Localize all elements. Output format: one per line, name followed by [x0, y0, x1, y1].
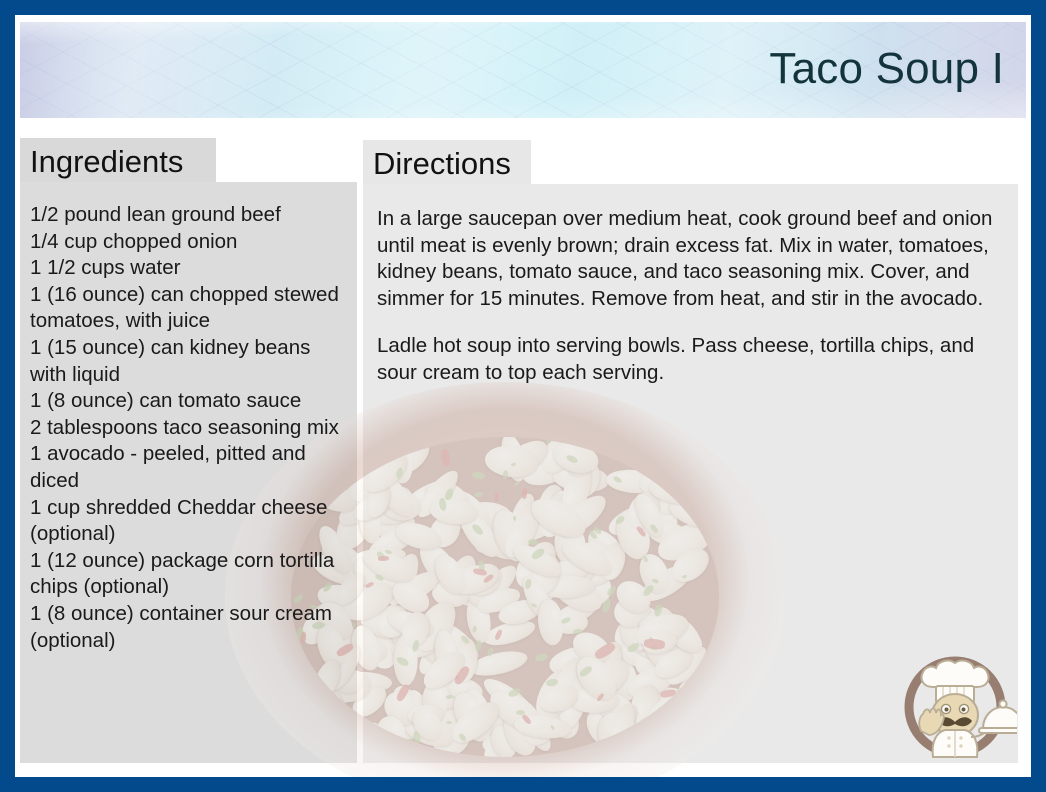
ingredient-item: 1/4 cup chopped onion	[30, 229, 349, 256]
ingredients-panel: 1/2 pound lean ground beef 1/4 cup chopp…	[20, 182, 357, 763]
ingredient-item: 2 tablespoons taco seasoning mix	[30, 415, 349, 442]
section-header-directions: Directions	[363, 140, 531, 186]
ingredient-item: 1 1/2 cups water	[30, 255, 349, 282]
section-header-ingredients: Ingredients	[20, 138, 216, 184]
ingredient-item: 1 cup shredded Cheddar cheese (optional)	[30, 495, 349, 548]
page-title: Taco Soup I	[769, 47, 1004, 91]
ingredient-item: 1 (8 ounce) container sour cream (option…	[30, 601, 349, 654]
chef-jacket	[933, 730, 978, 757]
ingredient-item: 1 (8 ounce) can tomato sauce	[30, 388, 349, 415]
ingredient-item: 1 (12 ounce) package corn tortilla chips…	[30, 548, 349, 601]
chef-logo	[893, 645, 1017, 763]
recipe-card-page: Taco Soup I Ingredients 1/2 pound lean g…	[0, 0, 1046, 792]
ingredient-item: 1/2 pound lean ground beef	[30, 202, 349, 229]
ingredient-item: 1 (15 ounce) can kidney beans with liqui…	[30, 335, 349, 388]
ingredient-item: 1 (16 ounce) can chopped stewed tomatoes…	[30, 282, 349, 335]
title-banner: Taco Soup I	[20, 22, 1026, 118]
ingredient-item: 1 avocado - peeled, pitted and diced	[30, 441, 349, 494]
card-canvas: Taco Soup I Ingredients 1/2 pound lean g…	[15, 15, 1031, 777]
direction-paragraph: Ladle hot soup into serving bowls. Pass …	[377, 333, 1004, 386]
direction-paragraph: In a large saucepan over medium heat, co…	[377, 206, 1004, 312]
